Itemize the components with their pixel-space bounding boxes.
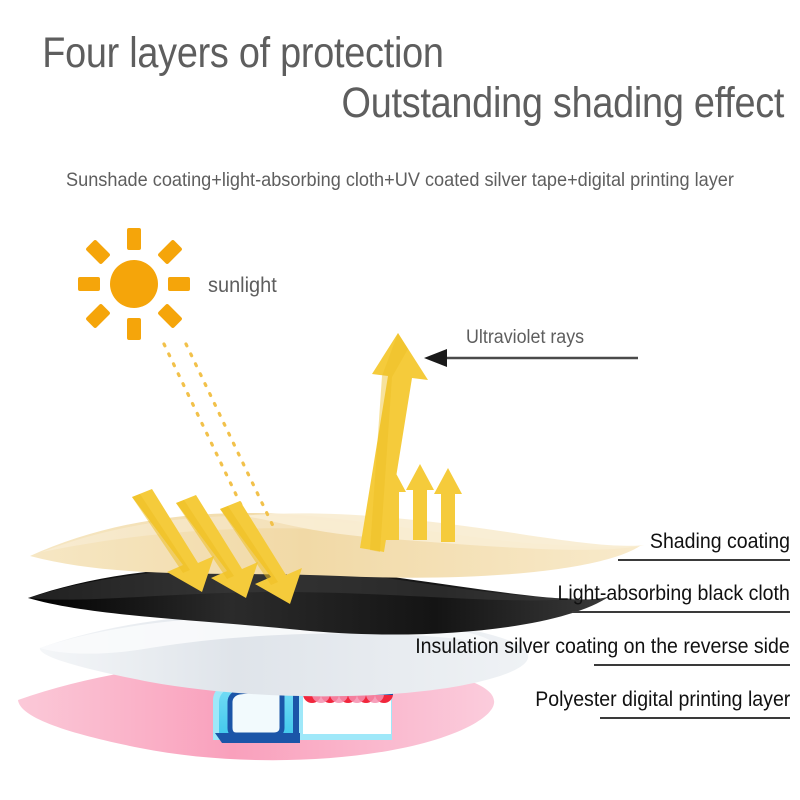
callout-shading-coating: Shading coating bbox=[618, 529, 790, 561]
layers-diagram bbox=[0, 0, 800, 800]
callout-shading-coating-label: Shading coating bbox=[630, 529, 790, 555]
layer-black-cloth bbox=[28, 566, 610, 634]
callout-rule bbox=[594, 664, 790, 666]
infographic-canvas: Four layers of protection Outstanding sh… bbox=[0, 0, 800, 800]
ultraviolet-rays-label: Ultraviolet rays bbox=[466, 327, 584, 349]
callout-rule bbox=[600, 717, 790, 719]
callout-silver-coating-label: Insulation silver coating on the reverse… bbox=[415, 634, 790, 660]
callout-rule bbox=[572, 611, 790, 613]
callout-rule bbox=[618, 559, 790, 561]
callout-black-cloth-label: Light-absorbing black cloth bbox=[558, 581, 790, 607]
callout-printing-layer-label: Polyester digital printing layer bbox=[535, 687, 790, 713]
uv-arrow bbox=[424, 349, 638, 367]
layer-shading-coating bbox=[30, 513, 644, 578]
sunray-dotted-lines bbox=[164, 344, 274, 528]
callout-printing-layer: Polyester digital printing layer bbox=[516, 687, 790, 719]
callout-black-cloth: Light-absorbing black cloth bbox=[540, 581, 790, 613]
callout-silver-coating: Insulation silver coating on the reverse… bbox=[387, 634, 790, 666]
